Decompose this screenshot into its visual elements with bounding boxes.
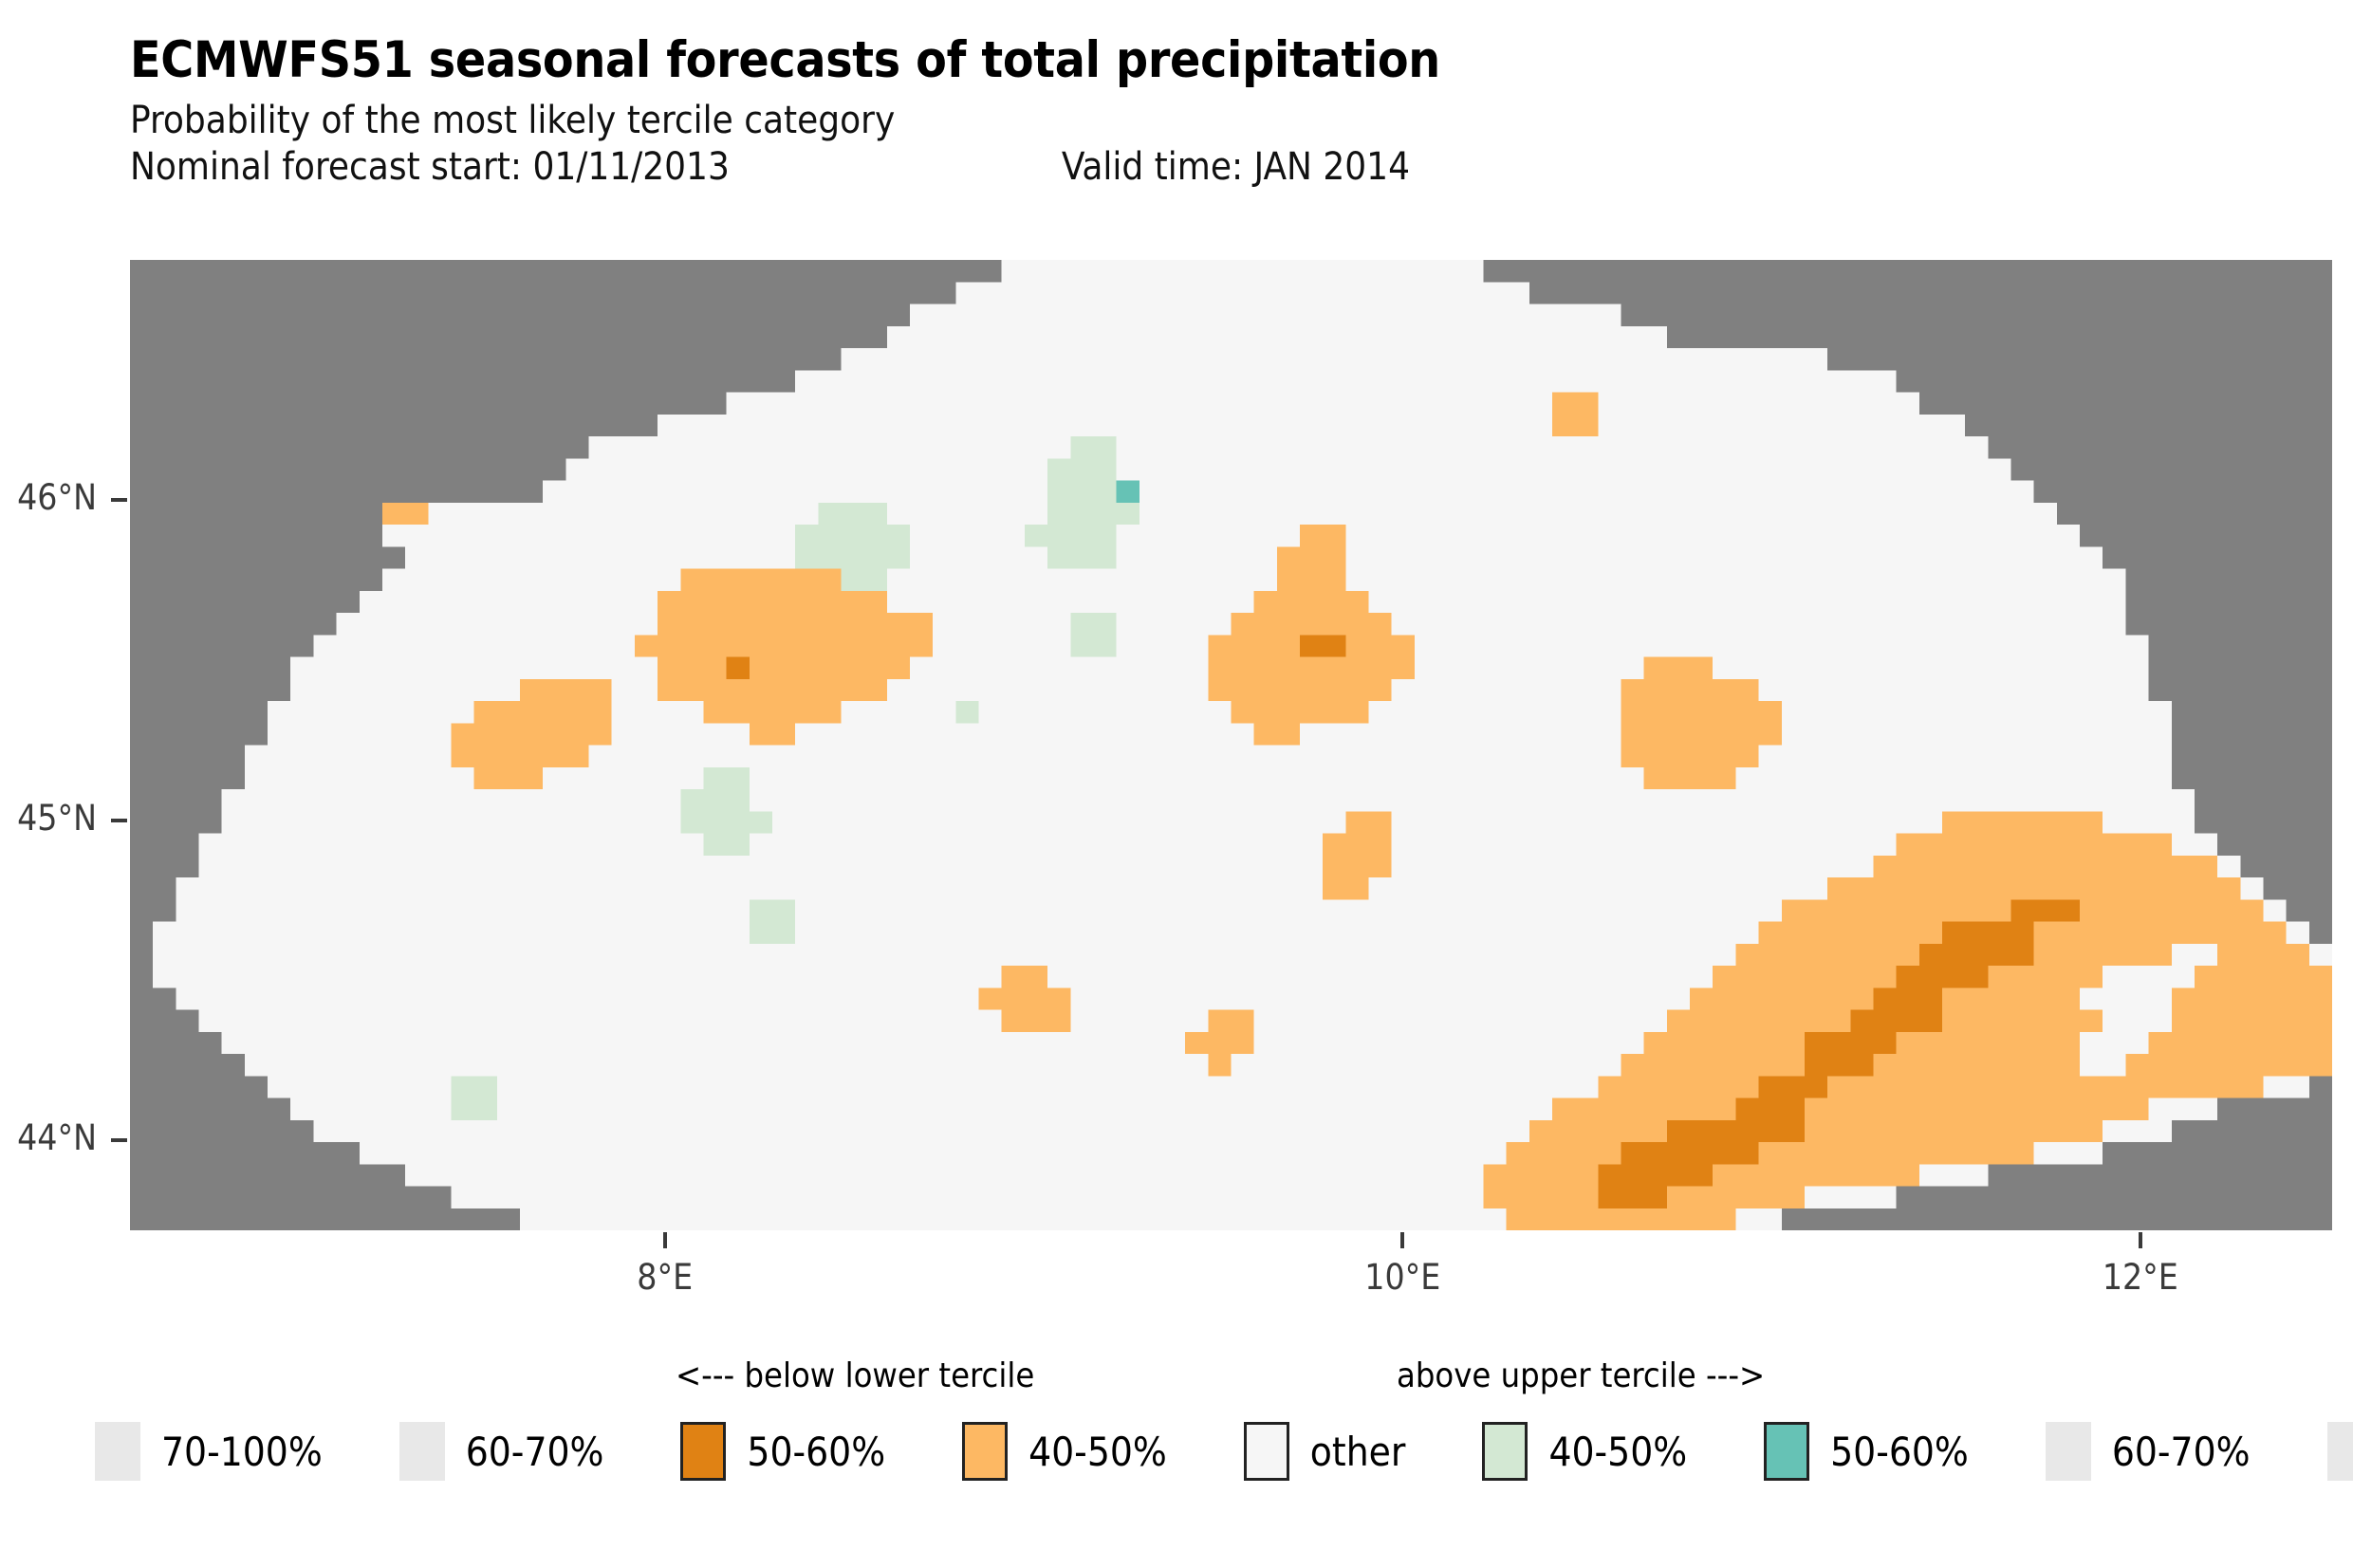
legend-item-above-70-100[interactable]: 70-100% [2327, 1422, 2353, 1481]
legend-label-other: other [1310, 1429, 1406, 1475]
latitude-tick-mark [111, 498, 127, 502]
chart-subtitle: Probability of the most likely tercile c… [130, 99, 2331, 143]
legend-swatch-below-40-50 [962, 1422, 1008, 1481]
chart-header: ECMWFS51 seasonal forecasts of total pre… [130, 34, 2331, 189]
legend-swatch-below-50-60 [680, 1422, 726, 1481]
latitude-tick-label: 44°N [0, 1117, 97, 1158]
legend-swatch-above-50-60 [1764, 1422, 1809, 1481]
legend-swatch-below-70-100 [95, 1422, 140, 1481]
tercile-probability-raster [130, 260, 2332, 1230]
legend-label-below-60-70: 60-70% [466, 1429, 604, 1475]
valid-time-label: Valid time: JAN 2014 [1062, 145, 1410, 189]
longitude-tick-mark [2139, 1232, 2142, 1248]
legend-swatch-above-40-50 [1482, 1422, 1528, 1481]
legend-label-below-70-100: 70-100% [161, 1429, 323, 1475]
latitude-tick-mark [111, 819, 127, 822]
longitude-tick-label: 10°E [1326, 1257, 1478, 1298]
legend-swatch-below-60-70 [399, 1422, 445, 1481]
legend-item-other[interactable]: other [1244, 1422, 1431, 1481]
legend-item-below-70-100[interactable]: 70-100% [95, 1422, 347, 1481]
legend-label-below-40-50: 40-50% [1028, 1429, 1167, 1475]
longitude-tick-label: 12°E [2065, 1257, 2216, 1298]
tercile-direction-row: <--- below lower tercile above upper ter… [130, 1356, 2332, 1402]
legend-swatch-above-70-100 [2327, 1422, 2353, 1481]
above-upper-tercile-label: above upper tercile ---> [1397, 1356, 1765, 1395]
legend-item-below-60-70[interactable]: 60-70% [399, 1422, 629, 1481]
forecast-start-label: Nominal forecast start: 01/11/2013 [130, 145, 730, 189]
legend-item-above-60-70[interactable]: 60-70% [2046, 1422, 2275, 1481]
legend-label-above-50-60: 50-60% [1830, 1429, 1969, 1475]
below-lower-tercile-label: <--- below lower tercile [676, 1356, 1034, 1395]
latitude-tick-mark [111, 1138, 127, 1142]
page-title: ECMWFS51 seasonal forecasts of total pre… [130, 34, 2331, 87]
legend-swatch-above-60-70 [2046, 1422, 2091, 1481]
legend-label-above-40-50: 40-50% [1548, 1429, 1687, 1475]
legend-item-above-50-60[interactable]: 50-60% [1764, 1422, 1993, 1481]
chart-meta-row: Nominal forecast start: 01/11/2013 Valid… [130, 145, 2122, 189]
longitude-tick-mark [663, 1232, 667, 1248]
legend-item-below-50-60[interactable]: 50-60% [680, 1422, 910, 1481]
legend-item-above-40-50[interactable]: 40-50% [1482, 1422, 1712, 1481]
longitude-tick-label: 8°E [589, 1257, 741, 1298]
legend-swatch-other [1244, 1422, 1289, 1481]
probability-legend: 70-100%60-70%50-60%40-50%other40-50%50-6… [0, 1418, 2353, 1485]
longitude-tick-mark [1400, 1232, 1404, 1248]
legend-label-above-60-70: 60-70% [2112, 1429, 2251, 1475]
legend-item-below-40-50[interactable]: 40-50% [962, 1422, 1192, 1481]
map-plot-area[interactable] [130, 260, 2332, 1230]
latitude-tick-label: 46°N [0, 477, 97, 518]
legend-label-below-50-60: 50-60% [747, 1429, 885, 1475]
latitude-tick-label: 45°N [0, 798, 97, 839]
